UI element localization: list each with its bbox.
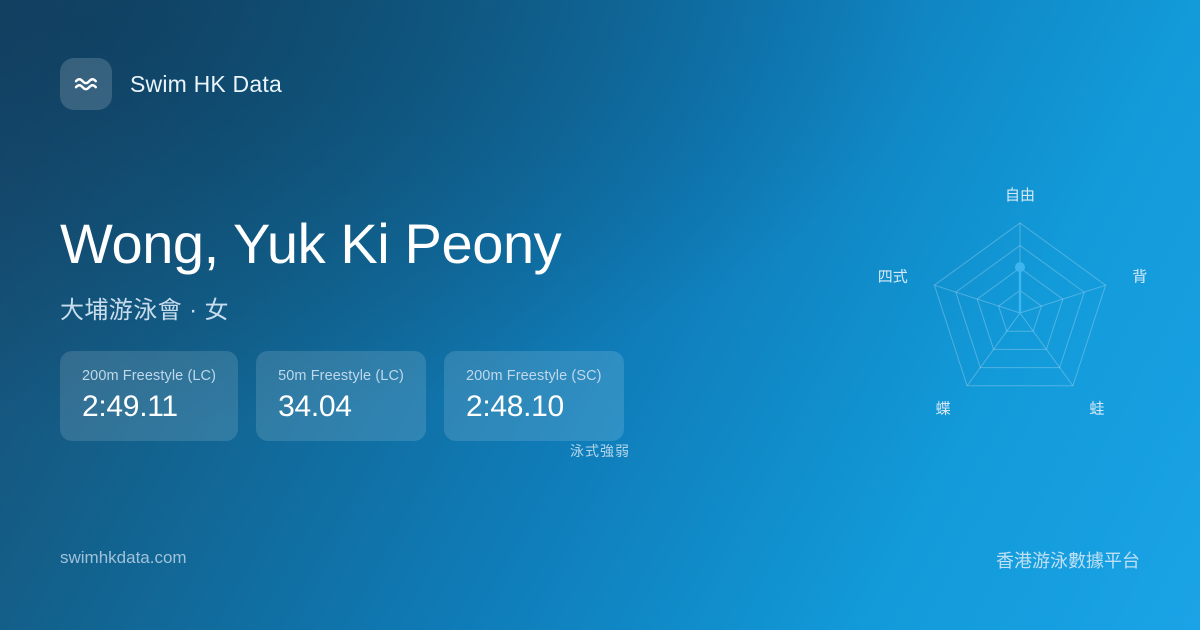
brand: Swim HK Data: [60, 58, 282, 110]
radar-axis-label: 背: [1132, 269, 1147, 286]
stat-card: 50m Freestyle (LC) 34.04: [256, 351, 426, 441]
radar-axis-label: 自由: [1005, 187, 1035, 204]
stat-card-label: 50m Freestyle (LC): [278, 368, 404, 384]
stat-card-value: 2:49.11: [82, 391, 216, 423]
page-title: Wong, Yuk Ki Peony: [60, 214, 561, 274]
radar-series: [1015, 262, 1025, 313]
stat-card-value: 2:48.10: [466, 391, 602, 423]
radar-axis-label: 蝶: [936, 401, 951, 418]
stat-card-list: 200m Freestyle (LC) 2:49.11 50m Freestyl…: [60, 351, 624, 441]
radar-axis-label: 蛙: [1089, 401, 1104, 418]
athlete-meta: 大埔游泳會 · 女: [60, 290, 561, 325]
stat-card-label: 200m Freestyle (LC): [82, 368, 216, 384]
footer-tagline: 香港游泳數據平台: [996, 547, 1140, 573]
stat-card: 200m Freestyle (SC) 2:48.10: [444, 351, 624, 441]
radar-axis-label: 四式: [878, 269, 908, 286]
stat-card-value: 34.04: [278, 391, 404, 423]
og-card: Swim HK Data Wong, Yuk Ki Peony 大埔游泳會 · …: [0, 0, 1200, 630]
brand-name: Swim HK Data: [130, 71, 282, 98]
footer-site-url: swimhkdata.com: [60, 548, 187, 568]
waves-icon: [60, 58, 112, 110]
radar-axis-labels: 自由背蛙蝶四式: [878, 187, 1147, 418]
stroke-radar-chart: 自由背蛙蝶四式: [860, 165, 1180, 475]
stat-card: 200m Freestyle (LC) 2:49.11: [60, 351, 238, 441]
athlete-header: Wong, Yuk Ki Peony 大埔游泳會 · 女: [60, 214, 561, 325]
stat-card-label: 200m Freestyle (SC): [466, 368, 602, 384]
radar-caption: 泳式強弱: [0, 441, 1200, 461]
